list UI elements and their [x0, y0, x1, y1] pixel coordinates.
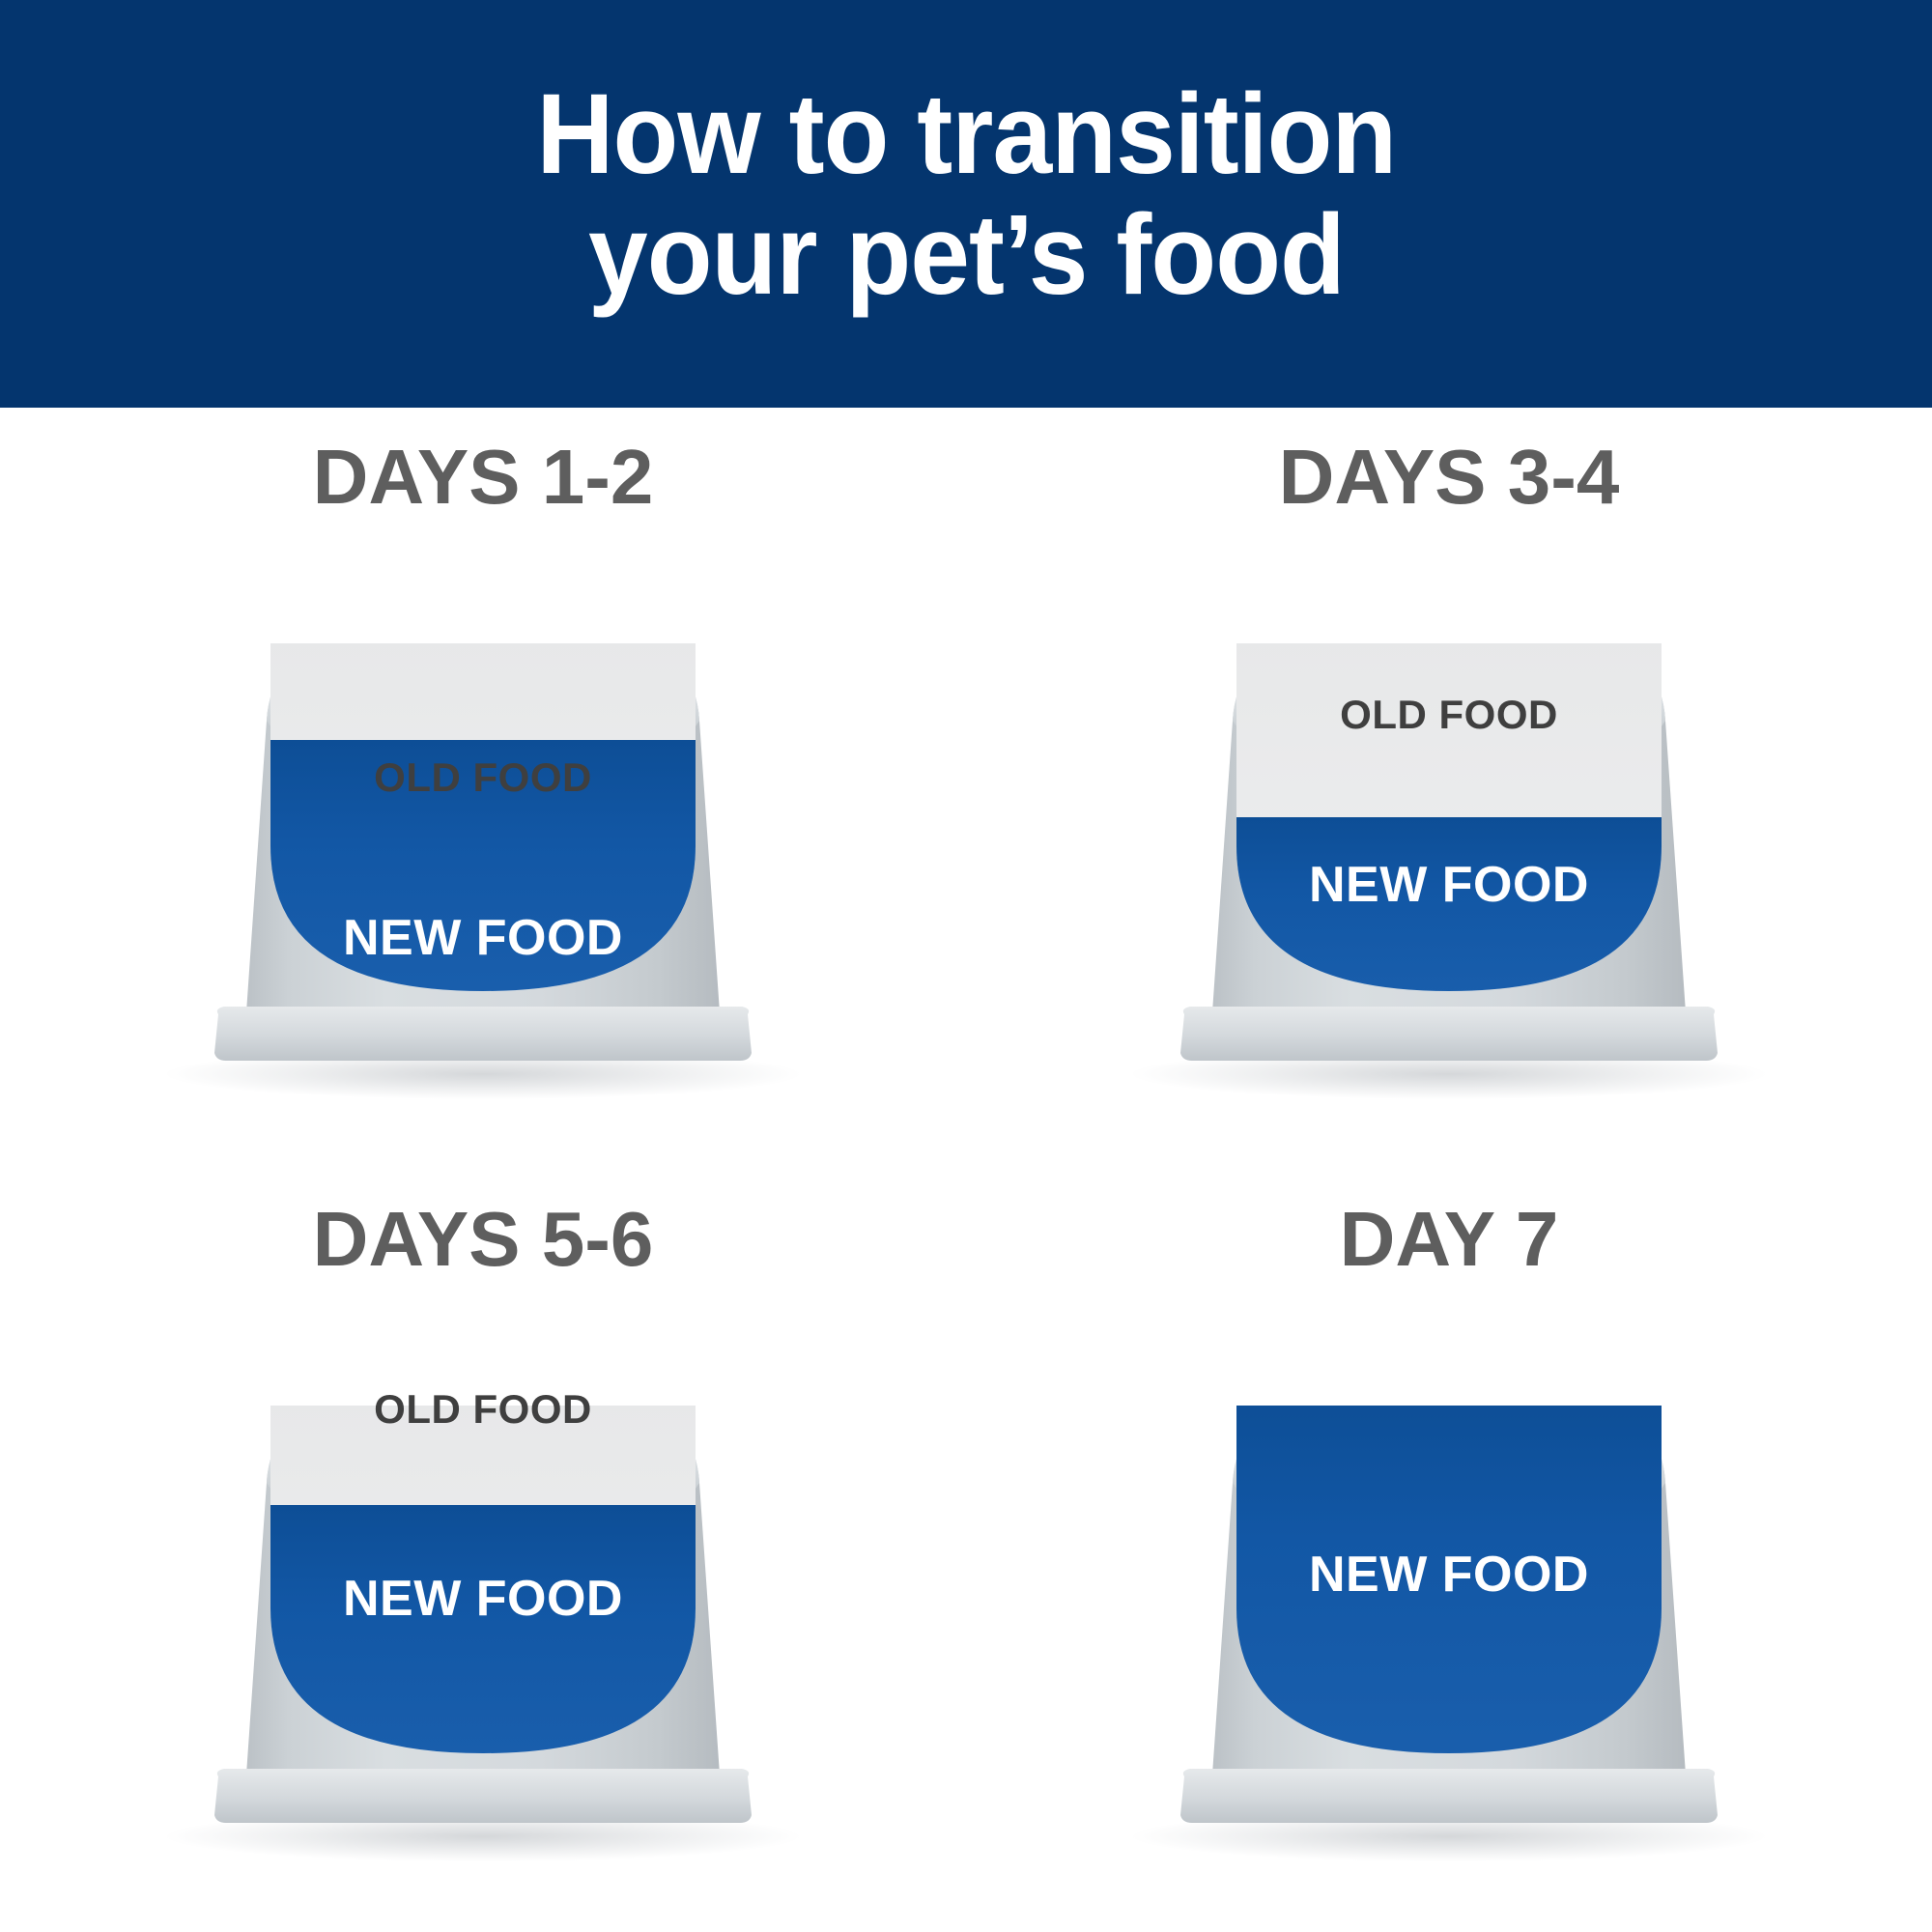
- bowl-days-1-2: OLD FOOD NEW FOOD: [97, 537, 869, 1117]
- step-card-days-3-4: DAYS 3-4 OLD FOOD NEW FOOD: [966, 408, 1932, 1170]
- bowl-illustration: [1063, 537, 1835, 1117]
- bowl-illustration: [97, 537, 869, 1117]
- bowl-illustration: [97, 1299, 869, 1879]
- page-title-line-2: your pet’s food: [588, 195, 1345, 316]
- step-card-days-5-6: DAYS 5-6 OLD FOOD NEW FOOD: [0, 1170, 966, 1932]
- step-title: DAY 7: [1340, 1201, 1559, 1278]
- page-header: How to transition your pet’s food: [0, 0, 1932, 408]
- steps-grid: DAYS 1-2: [0, 408, 1932, 1932]
- page-title-line-1: How to transition: [536, 74, 1396, 195]
- bowl-days-3-4: OLD FOOD NEW FOOD: [1063, 537, 1835, 1117]
- step-title: DAYS 5-6: [313, 1201, 654, 1278]
- bowl-day-7: NEW FOOD: [1063, 1299, 1835, 1879]
- step-title: DAYS 1-2: [313, 439, 654, 516]
- bowl-days-5-6: OLD FOOD NEW FOOD: [97, 1299, 869, 1879]
- bowl-illustration: [1063, 1299, 1835, 1879]
- step-card-day-7: DAY 7 NEW FOOD: [966, 1170, 1932, 1932]
- step-card-days-1-2: DAYS 1-2: [0, 408, 966, 1170]
- step-title: DAYS 3-4: [1279, 439, 1620, 516]
